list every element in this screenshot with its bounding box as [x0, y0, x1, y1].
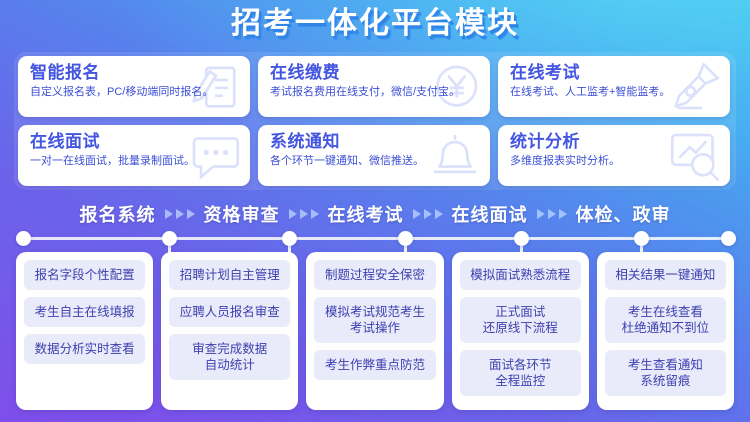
detail-item[interactable]: 考生查看通知 系统留痕: [605, 350, 726, 396]
detail-item[interactable]: 应聘人员报名审查: [169, 297, 290, 327]
feature-card-heading: 系统通知: [270, 132, 480, 152]
timeline-dot: [162, 231, 177, 246]
step-arrow-separator: [413, 209, 443, 219]
detail-item[interactable]: 正式面试 还原线下流程: [460, 297, 581, 343]
detail-item[interactable]: 模拟面试熟悉流程: [460, 260, 581, 290]
process-step-label: 报名系统: [80, 201, 156, 227]
feature-card-statistics-analysis[interactable]: 统计分析 多维度报表实时分析。: [498, 125, 730, 186]
step-arrow-separator: [537, 209, 567, 219]
process-timeline: [0, 228, 750, 256]
detail-column-medical-political-review: 相关结果一键通知 考生在线查看 杜绝通知不到位 考生查看通知 系统留痕: [597, 252, 734, 410]
detail-column-online-exam: 制题过程安全保密 模拟考试规范考生 考试操作 考生作弊重点防范: [306, 252, 443, 410]
detail-item[interactable]: 模拟考试规范考生 考试操作: [314, 297, 435, 343]
feature-card-heading: 统计分析: [510, 132, 720, 152]
detail-item[interactable]: 考生在线查看 杜绝通知不到位: [605, 297, 726, 343]
timeline-dot: [514, 231, 529, 246]
timeline-dot: [634, 231, 649, 246]
feature-card-smart-registration[interactable]: 智能报名 自定义报名表，PC/移动端同时报名。: [18, 56, 250, 117]
timeline-dot: [721, 231, 736, 246]
detail-item[interactable]: 数据分析实时查看: [24, 334, 145, 364]
detail-item[interactable]: 制题过程安全保密: [314, 260, 435, 290]
feature-card-online-exam[interactable]: 在线考试 在线考试、人工监考+智能监考。: [498, 56, 730, 117]
detail-column-qualification-review: 招聘计划自主管理 应聘人员报名审查 审查完成数据 自动统计: [161, 252, 298, 410]
feature-card-desc: 考试报名费用在线支付，微信/支付宝。: [270, 85, 480, 99]
detail-item[interactable]: 相关结果一键通知: [605, 260, 726, 290]
timeline-dot: [282, 231, 297, 246]
timeline-line: [22, 237, 728, 240]
feature-card-heading: 在线面试: [30, 132, 240, 152]
page-title: 招考一体化平台模块: [231, 4, 519, 44]
feature-card-grid: 智能报名 自定义报名表，PC/移动端同时报名。 在线缴费 考试报名费用在线支付，…: [18, 56, 732, 186]
detail-column-registration: 报名字段个性配置 考生自主在线填报 数据分析实时查看: [16, 252, 153, 410]
detail-item[interactable]: 面试各环节 全程监控: [460, 350, 581, 396]
feature-card-desc: 多维度报表实时分析。: [510, 154, 720, 168]
detail-column-online-interview: 模拟面试熟悉流程 正式面试 还原线下流程 面试各环节 全程监控: [452, 252, 589, 410]
feature-card-desc: 自定义报名表，PC/移动端同时报名。: [30, 85, 240, 99]
detail-item[interactable]: 考生自主在线填报: [24, 297, 145, 327]
detail-column-row: 报名字段个性配置 考生自主在线填报 数据分析实时查看 招聘计划自主管理 应聘人员…: [16, 252, 734, 410]
step-arrow-separator: [289, 209, 319, 219]
detail-item[interactable]: 考生作弊重点防范: [314, 350, 435, 380]
poster-canvas: 招考一体化平台模块 智能报名 自定义报名表，PC/移动端同时报名。: [0, 0, 750, 422]
feature-card-online-interview[interactable]: 在线面试 一对一在线面试，批量录制面试。: [18, 125, 250, 186]
page-title-wrapper: 招考一体化平台模块: [0, 4, 750, 44]
feature-card-heading: 智能报名: [30, 63, 240, 83]
process-step-label: 在线面试: [452, 201, 528, 227]
feature-card-system-notification[interactable]: 系统通知 各个环节一键通知、微信推送。: [258, 125, 490, 186]
feature-card-online-payment[interactable]: 在线缴费 考试报名费用在线支付，微信/支付宝。: [258, 56, 490, 117]
detail-item[interactable]: 报名字段个性配置: [24, 260, 145, 290]
process-step-label: 资格审查: [204, 201, 280, 227]
step-arrow-separator: [165, 209, 195, 219]
timeline-dot: [16, 231, 31, 246]
feature-card-desc: 一对一在线面试，批量录制面试。: [30, 154, 240, 168]
feature-card-desc: 各个环节一键通知、微信推送。: [270, 154, 480, 168]
detail-item[interactable]: 招聘计划自主管理: [169, 260, 290, 290]
detail-item[interactable]: 审查完成数据 自动统计: [169, 334, 290, 380]
process-step-label: 体检、政审: [576, 201, 671, 227]
feature-card-heading: 在线缴费: [270, 63, 480, 83]
feature-card-heading: 在线考试: [510, 63, 720, 83]
feature-card-desc: 在线考试、人工监考+智能监考。: [510, 85, 720, 99]
process-step-row: 报名系统 资格审查 在线考试 在线面试 体检、政审: [0, 198, 750, 230]
process-step-label: 在线考试: [328, 201, 404, 227]
timeline-dot: [398, 231, 413, 246]
